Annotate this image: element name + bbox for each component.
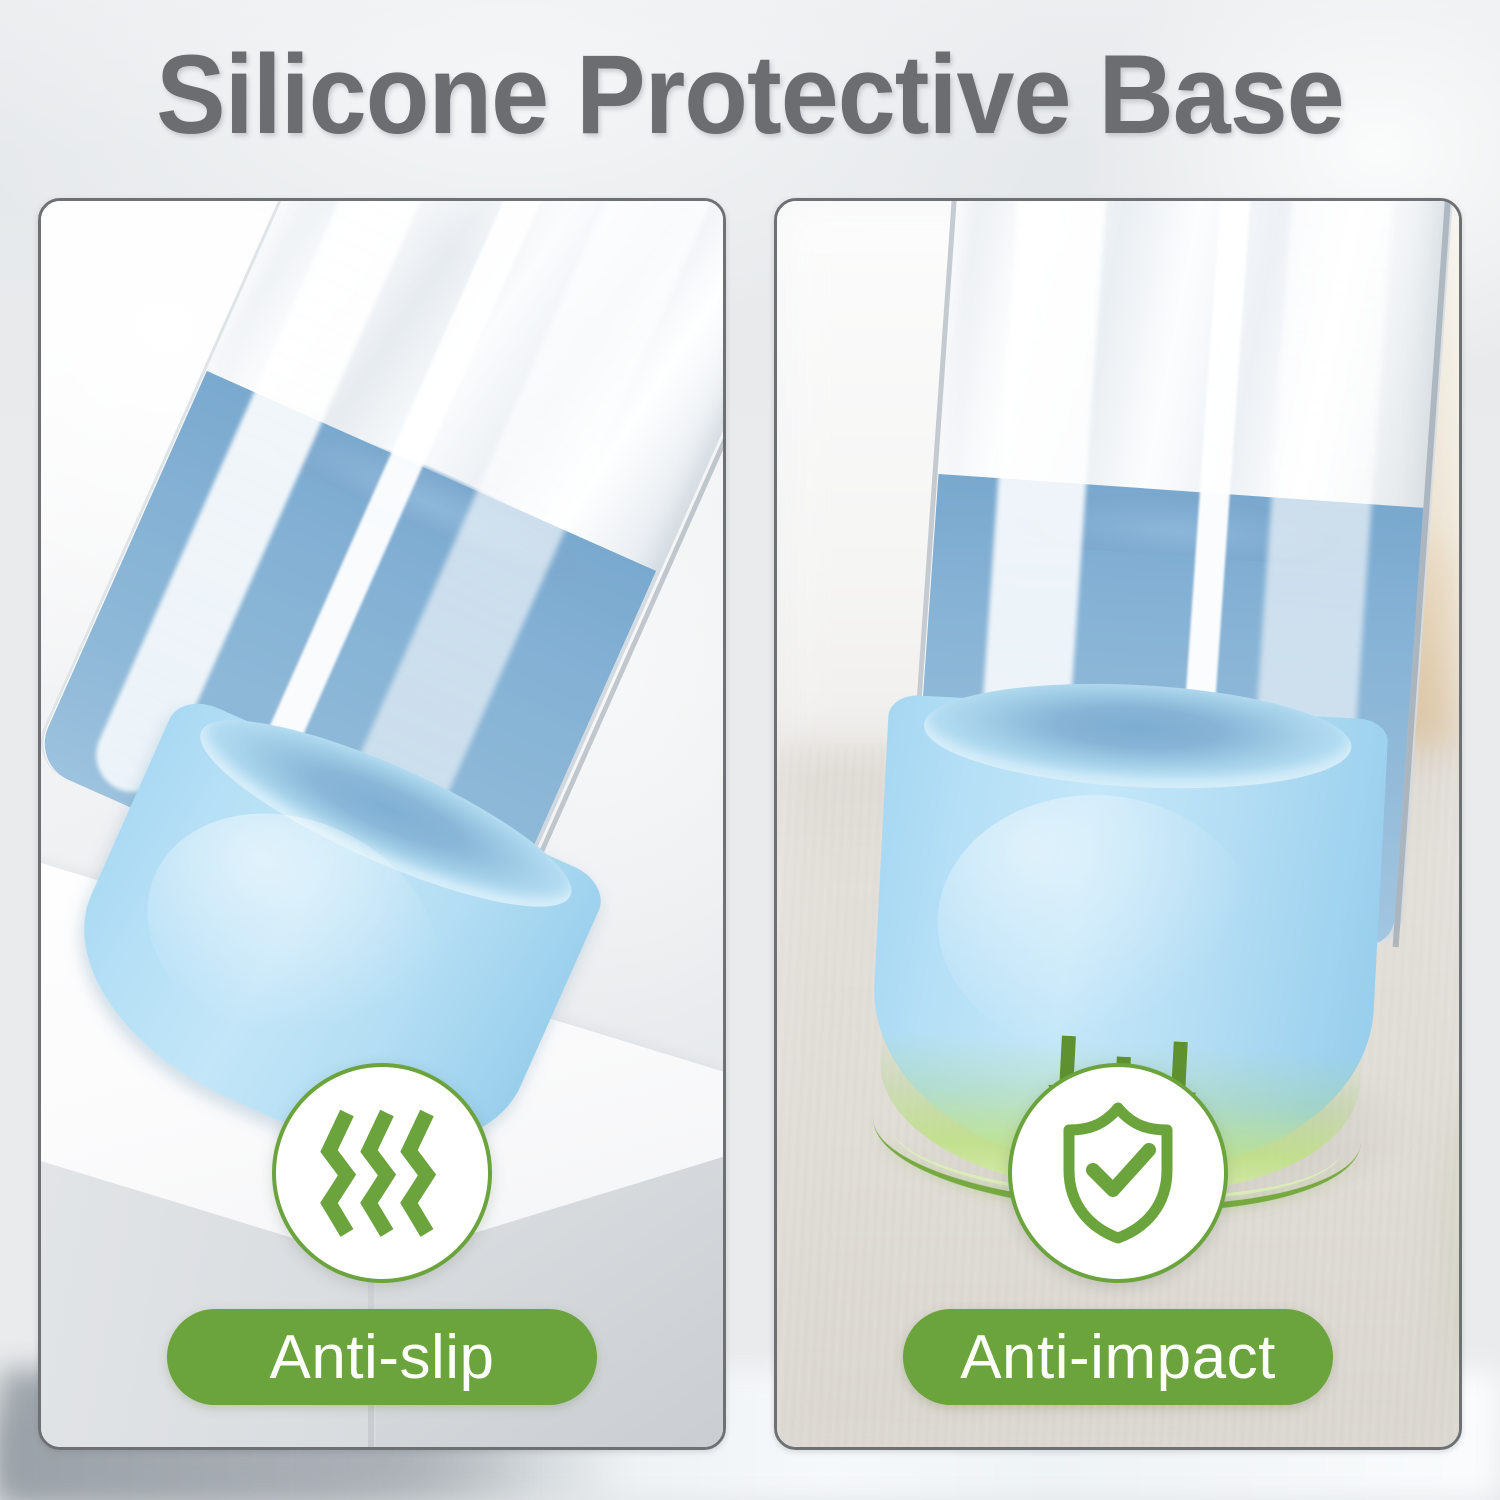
shield-check-icon <box>1008 1063 1228 1283</box>
wavy-lines-icon <box>272 1063 492 1283</box>
anti-impact-label: Anti-impact <box>903 1309 1333 1405</box>
panel-anti-slip[interactable]: Anti-slip <box>38 198 726 1450</box>
anti-slip-feature: Anti-slip <box>41 1063 723 1405</box>
panel-anti-impact[interactable]: Anti-impact <box>774 198 1462 1450</box>
anti-impact-feature: Anti-impact <box>777 1063 1459 1405</box>
feature-panels: Anti-slip <box>38 198 1462 1446</box>
anti-slip-label: Anti-slip <box>167 1309 597 1405</box>
page-title: Silicone Protective Base <box>53 32 1448 158</box>
